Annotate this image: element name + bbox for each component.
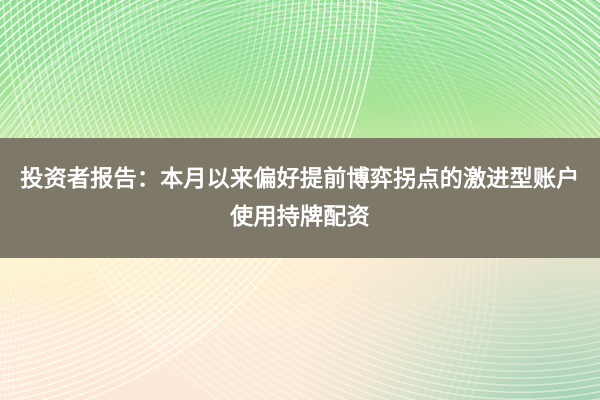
title-card: 投资者报告：本月以来偏好提前博弈拐点的激进型账户使用持牌配资 <box>0 0 600 400</box>
page-title: 投资者报告：本月以来偏好提前博弈拐点的激进型账户使用持牌配资 <box>12 160 588 236</box>
title-band: 投资者报告：本月以来偏好提前博弈拐点的激进型账户使用持牌配资 <box>0 138 600 258</box>
